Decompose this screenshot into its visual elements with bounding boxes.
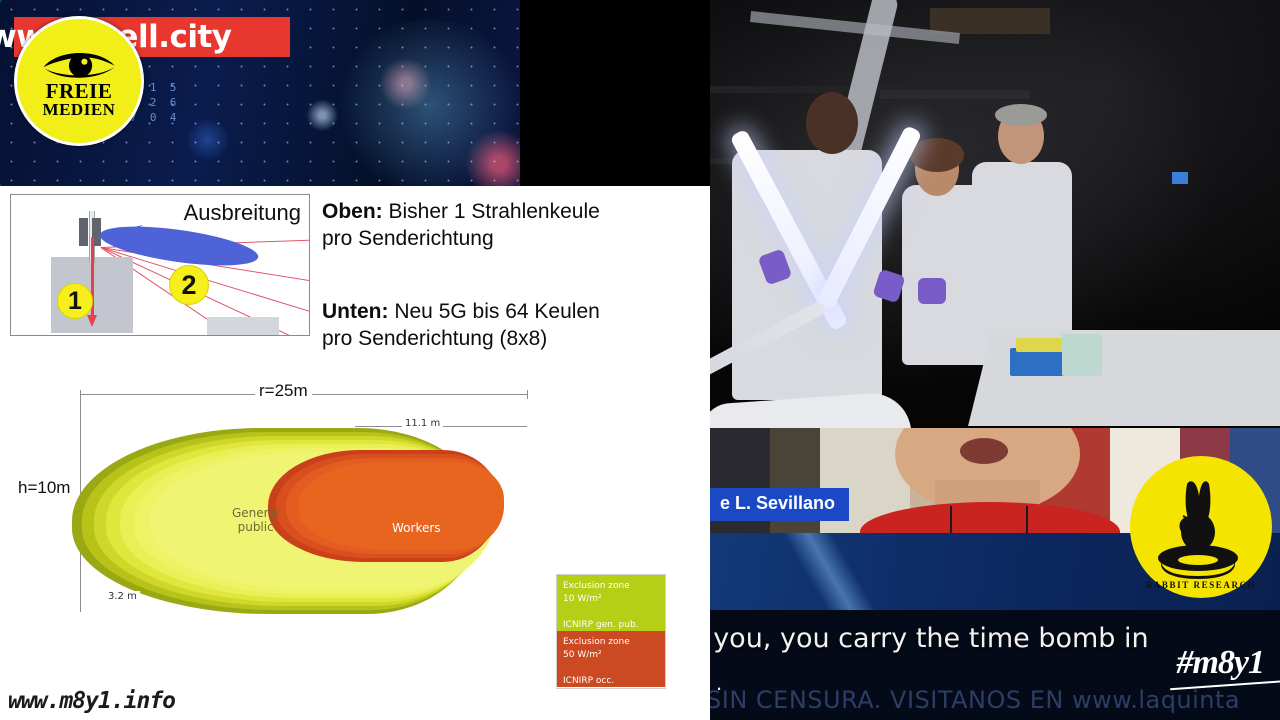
radius-label: r=25m <box>255 381 312 401</box>
workers-label: Workers <box>392 521 441 535</box>
legend-gp-line2: 10 W/m² <box>563 594 602 604</box>
height-label: h=10m <box>14 478 74 498</box>
scientist-middle-hair <box>910 138 964 172</box>
caption-top-label: Oben: <box>322 200 383 223</box>
caption-top-line1: Bisher 1 Strahlenkeule <box>383 200 600 223</box>
network-glow <box>330 20 520 186</box>
workers-zone <box>268 442 516 570</box>
marker-1: 1 <box>57 283 93 319</box>
rabbit-research-logo: RABBIT RESEARCH <box>1130 456 1272 598</box>
marker-2: 2 <box>169 265 209 305</box>
lab-video-panel[interactable] <box>710 0 1280 428</box>
speaker-mouth <box>960 438 1008 464</box>
legend-gp-line3: ICNIRP gen. pub. <box>563 620 639 630</box>
scientist-right-coat <box>972 162 1072 352</box>
dim-tick-right <box>527 390 528 399</box>
shelf-mid <box>880 90 1030 99</box>
legend-occ-line3: ICNIRP occ. <box>563 676 614 686</box>
watermark-bottom-right: #m8y1 <box>1176 644 1264 682</box>
sevillano-video-panel[interactable]: e L. Sevillano e you, you carry the time… <box>710 428 1280 720</box>
freie-medien-logo: FREIE MEDIEN <box>14 16 144 146</box>
screenshot-root: 3 1 59 2 67 0 4 www.orwell.city FREIE ME… <box>0 0 1280 720</box>
caption-bottom-line1: Neu 5G bis 64 Keulen <box>389 300 600 323</box>
legend-gp-line1: Exclusion zone <box>563 581 630 591</box>
legend-general-public: Exclusion zone 10 W/m² ICNIRP gen. pub. <box>557 575 665 631</box>
caption-bottom: Unten: Neu 5G bis 64 Keulen pro Senderic… <box>322 298 672 352</box>
shelf-boxes <box>930 8 1050 34</box>
caption-top: Oben: Bisher 1 Strahlenkeule pro Senderi… <box>322 198 672 252</box>
speaker-name-banner: e L. Sevillano <box>710 488 849 521</box>
slide-sheet: Ausbreitung 1 2 Oben: Bisher 1 Strahlenk… <box>0 186 710 720</box>
ausbreitung-title: Ausbreitung <box>184 200 301 226</box>
scientist-left-head <box>806 92 858 154</box>
caption-bottom-line2: pro Senderichtung (8x8) <box>322 327 547 350</box>
antenna-panel-left <box>79 218 88 246</box>
lab-table <box>968 330 1280 426</box>
general-public-label: Generalpublic <box>232 506 279 534</box>
legend-occ-line2: 50 W/m² <box>563 650 602 660</box>
glove-middle <box>918 278 946 304</box>
base-width-label: 3.2 m <box>105 591 140 602</box>
legend-occ-line1: Exclusion zone <box>563 637 630 647</box>
ticker-text: SIN CENSURA. VISITANOS EN www.laquinta <box>710 686 1280 714</box>
eye-icon <box>40 47 118 81</box>
exposure-legend: Exclusion zone 10 W/m² ICNIRP gen. pub. … <box>556 574 666 689</box>
legend-occupational: Exclusion zone 50 W/m² ICNIRP occ. <box>557 631 665 687</box>
caption-bottom-label: Unten: <box>322 300 389 323</box>
freie-medien-line1: FREIE <box>46 82 113 101</box>
glove-box-green <box>1062 334 1102 376</box>
freie-medien-line2: MEDIEN <box>43 101 116 118</box>
ausbreitung-figure: Ausbreitung 1 2 <box>10 194 310 336</box>
scientist-right-hair <box>995 104 1047 126</box>
rabbit-in-hat-icon <box>1153 476 1249 580</box>
caption-top-line2: pro Senderichtung <box>322 227 494 250</box>
exposure-plume-diagram: r=25m h=10m 11.1 m <box>0 366 710 720</box>
watermark-bottom-left: www.m8y1.info <box>8 688 175 714</box>
ground-object <box>207 317 279 336</box>
equipment-display <box>1172 172 1188 184</box>
rabbit-research-text: RABBIT RESEARCH <box>1146 580 1257 590</box>
